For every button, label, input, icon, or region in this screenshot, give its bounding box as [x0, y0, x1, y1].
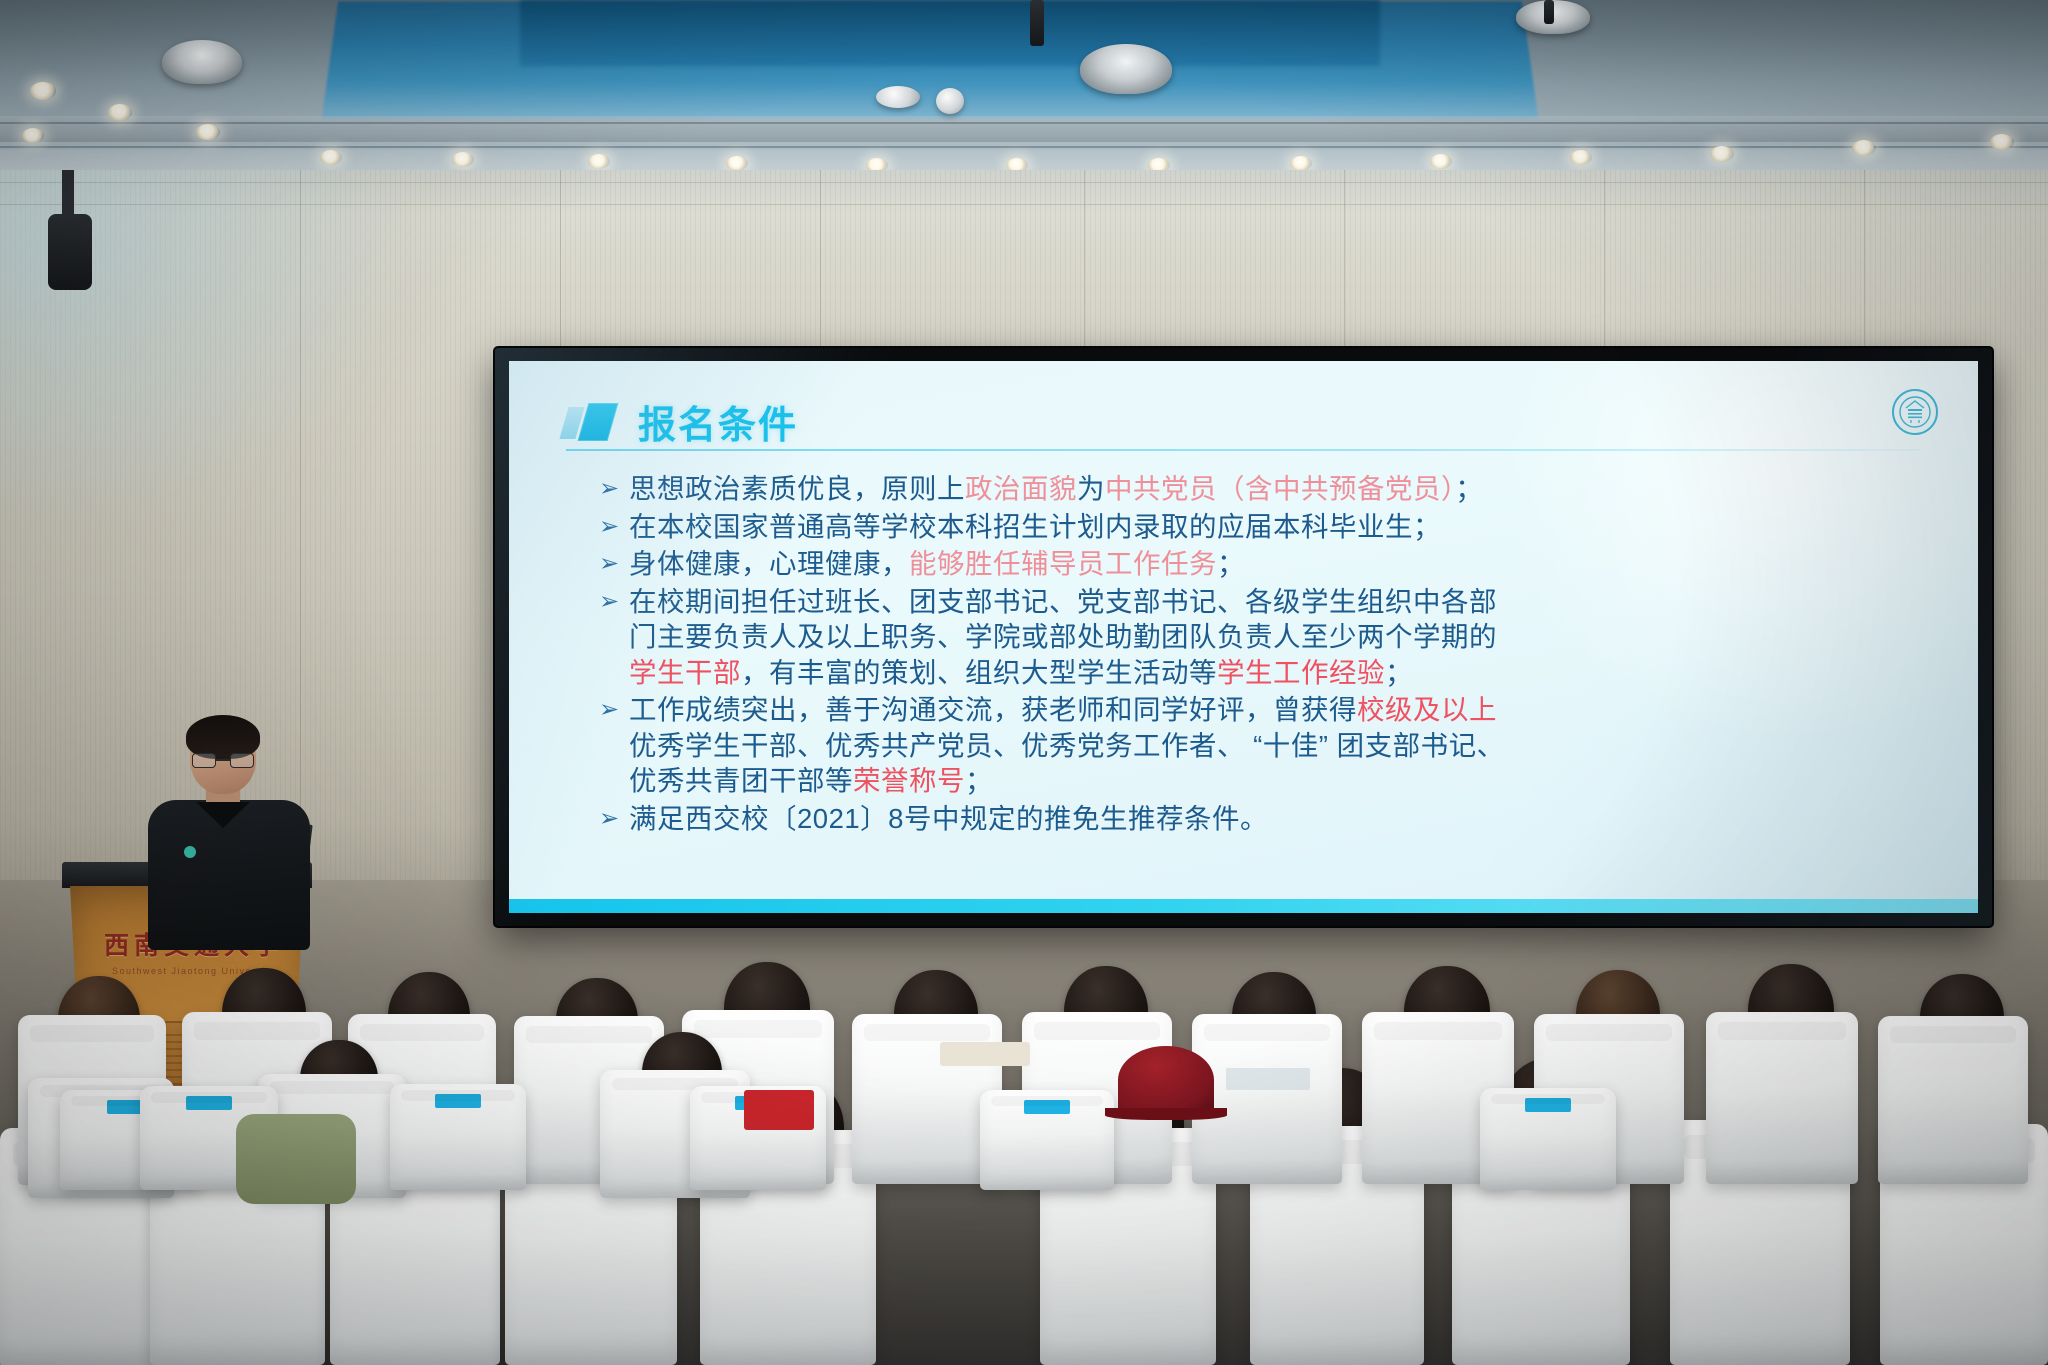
- ceiling-downlight: [22, 128, 44, 143]
- text-run: 满足西交校〔2021〕8号中规定的推免生推荐条件。: [629, 803, 1268, 834]
- paper-on-desk: [940, 1042, 1030, 1066]
- text-run: 学生干部: [629, 657, 741, 688]
- auditorium-seat: [980, 1090, 1114, 1190]
- text-run: ；: [1385, 657, 1413, 688]
- text-run: 思想政治素质优良，原则上: [629, 473, 965, 504]
- slide-bullet: ➢身体健康，心理健康，能够胜任辅导员工作任务；: [599, 546, 1939, 582]
- slide-bullet-line: 门主要负责人及以上职务、学院或部处助勤团队负责人至少两个学期的: [629, 619, 1939, 655]
- ceiling-blue-panel-inner: [520, 0, 1380, 66]
- text-run: ，有丰富的策划、组织大型学生活动等: [741, 657, 1217, 688]
- slide-title: 报名条件: [638, 394, 798, 449]
- ceiling-downlight: [1710, 146, 1734, 162]
- slide-bullet-line: 优秀学生干部、优秀共产党员、优秀党务工作者、 “十佳” 团支部书记、: [629, 728, 1939, 764]
- wall-trim-line: [0, 182, 2048, 183]
- text-run: 政治面貌: [965, 473, 1077, 504]
- text-run: 为: [1077, 473, 1105, 504]
- presenter-glasses: [192, 753, 254, 768]
- auditorium-seat: [1706, 1012, 1858, 1184]
- seat-number-tag: [435, 1094, 481, 1108]
- ceiling-downlight: [1290, 156, 1312, 171]
- ceiling-smoke-detector: [936, 88, 964, 114]
- slide-bullet: ➢满足西交校〔2021〕8号中规定的推免生推荐条件。: [599, 801, 1939, 837]
- slide-bullet-list: ➢思想政治素质优良，原则上政治面貌为中共党员（含中共预备党员）；➢在本校国家普通…: [599, 471, 1939, 838]
- text-run: ；: [1455, 473, 1483, 504]
- text-run: 优秀学生干部、优秀共产党员、优秀党务工作者、 “十佳” 团支部书记、: [629, 730, 1505, 761]
- wall-trim-line: [0, 204, 2048, 205]
- slide-bullet: ➢思想政治素质优良，原则上政治面貌为中共党员（含中共预备党员）；: [599, 471, 1939, 507]
- text-run: 能够胜任辅导员工作任务: [909, 548, 1217, 579]
- text-run: 优秀共青团干部等: [629, 765, 853, 796]
- slide-header: 报名条件: [564, 394, 798, 449]
- draped-jacket: [236, 1114, 356, 1204]
- slide-bullet-line: 学生干部，有丰富的策划、组织大型学生活动等学生工作经验；: [629, 655, 1939, 691]
- slide-bullet-line: 身体健康，心理健康，能够胜任辅导员工作任务；: [629, 546, 1939, 582]
- slide-bullet-line: 满足西交校〔2021〕8号中规定的推免生推荐条件。: [629, 801, 1939, 837]
- slide-bullet-text: 在校期间担任过班长、团支部书记、党支部书记、各级学生组织中各部门主要负责人及以上…: [629, 584, 1939, 691]
- text-run: 在校期间担任过班长、团支部书记、党支部书记、各级学生组织中各部: [629, 586, 1497, 617]
- text-run: 学生工作经验: [1217, 657, 1385, 688]
- bullet-marker-icon: ➢: [599, 471, 629, 507]
- slide-title-divider: [566, 449, 1921, 451]
- projector-mount: [1030, 0, 1044, 46]
- text-run: 门主要负责人及以上职务、学院或部处助勤团队负责人至少两个学期的: [629, 621, 1497, 652]
- text-run: ；: [965, 765, 993, 796]
- bullet-marker-icon: ➢: [599, 801, 629, 837]
- ceiling-downlight: [320, 150, 342, 165]
- ceiling-downlight: [452, 152, 474, 167]
- slide-bullet-line: 思想政治素质优良，原则上政治面貌为中共党员（含中共预备党员）；: [629, 471, 1939, 507]
- slide-bullet-text: 身体健康，心理健康，能够胜任辅导员工作任务；: [629, 546, 1939, 582]
- red-cap: [1118, 1046, 1214, 1114]
- ceiling-band: [0, 116, 2048, 142]
- lecture-hall-scene: 报名条件 ➢思想政治素质优良，原则上政治面貌为中共党员（含中共预备党员）；➢在本…: [0, 0, 2048, 1365]
- bullet-marker-icon: ➢: [599, 584, 629, 620]
- text-run: ；: [1217, 548, 1245, 579]
- text-run: 荣誉称号: [853, 765, 965, 796]
- text-run: 中共党员（含中共预备党员）: [1105, 473, 1455, 504]
- ceiling: [0, 0, 2048, 186]
- slide-bullet: ➢在本校国家普通高等学校本科招生计划内录取的应届本科毕业生；: [599, 509, 1939, 545]
- ceiling-speaker: [876, 86, 920, 108]
- slide-bullet-text: 满足西交校〔2021〕8号中规定的推免生推荐条件。: [629, 801, 1939, 837]
- slide-footer-bar: [509, 899, 1978, 913]
- slide-bullet-line: 工作成绩突出，善于沟通交流，获老师和同学好评，曾获得校级及以上: [629, 692, 1939, 728]
- auditorium-seat: [390, 1084, 526, 1190]
- slide-bullet-line: 在本校国家普通高等学校本科招生计划内录取的应届本科毕业生；: [629, 509, 1939, 545]
- slide-bullet-line: 在校期间担任过班长、团支部书记、党支部书记、各级学生组织中各部: [629, 584, 1939, 620]
- wall-speaker-box: [48, 214, 92, 290]
- auditorium-seat: [1878, 1016, 2028, 1184]
- ceiling-downlight: [588, 154, 610, 169]
- ceiling-downlight: [196, 124, 220, 140]
- projection-screen[interactable]: 报名条件 ➢思想政治素质优良，原则上政治面貌为中共党员（含中共预备党员）；➢在本…: [495, 348, 1992, 926]
- slide-bullet-text: 在本校国家普通高等学校本科招生计划内录取的应届本科毕业生；: [629, 509, 1939, 545]
- ceiling-downlight: [726, 156, 748, 171]
- paper-on-desk: [1226, 1068, 1310, 1090]
- slide-bullet: ➢在校期间担任过班长、团支部书记、党支部书记、各级学生组织中各部门主要负责人及以…: [599, 584, 1939, 691]
- text-run: 身体健康，心理健康，: [629, 548, 909, 579]
- ceiling-downlight: [1852, 140, 1876, 156]
- ceiling-slat: [0, 122, 2048, 124]
- slide-bullet-text: 工作成绩突出，善于沟通交流，获老师和同学好评，曾获得校级及以上优秀学生干部、优秀…: [629, 692, 1939, 799]
- text-run: 在本校国家普通高等学校本科招生计划内录取的应届本科毕业生；: [629, 511, 1441, 542]
- ceiling-downlight: [1570, 150, 1592, 165]
- seat-number-tag: [186, 1096, 232, 1110]
- auditorium-seat: [1480, 1088, 1616, 1190]
- ceiling-downlight: [1990, 134, 2014, 150]
- presenter-torso: [148, 800, 310, 950]
- slide-bullet-text: 思想政治素质优良，原则上政治面貌为中共党员（含中共预备党员）；: [629, 471, 1939, 507]
- university-crest-icon: [1892, 389, 1938, 435]
- red-booklet: [744, 1090, 814, 1130]
- ceiling-slat: [0, 146, 2048, 148]
- seat-number-tag: [1024, 1100, 1070, 1114]
- bullet-marker-icon: ➢: [599, 692, 629, 728]
- seat-number-tag: [1525, 1098, 1571, 1112]
- slide-bullet: ➢工作成绩突出，善于沟通交流，获老师和同学好评，曾获得校级及以上优秀学生干部、优…: [599, 692, 1939, 799]
- ceiling-downlight: [1430, 154, 1452, 169]
- wall-bracket: [62, 170, 74, 220]
- bullet-marker-icon: ➢: [599, 509, 629, 545]
- presenter: [140, 720, 340, 940]
- slide-title-parallelogram-icon: [564, 403, 616, 441]
- bullet-marker-icon: ➢: [599, 546, 629, 582]
- ceiling-downlight: [30, 82, 56, 100]
- presentation-slide: 报名条件 ➢思想政治素质优良，原则上政治面貌为中共党员（含中共预备党员）；➢在本…: [509, 361, 1978, 913]
- auditorium-seat: [1192, 1014, 1342, 1184]
- text-run: 校级及以上: [1357, 694, 1497, 725]
- ceiling-spotlight-can: [1080, 44, 1172, 94]
- ceiling-downlight: [108, 104, 132, 121]
- slide-bullet-line: 优秀共青团干部等荣誉称号；: [629, 763, 1939, 799]
- text-run: 工作成绩突出，善于沟通交流，获老师和同学好评，曾获得: [629, 694, 1357, 725]
- presenter-badge: [184, 846, 196, 858]
- projector-mount: [1544, 0, 1554, 24]
- ceiling-spotlight-can: [162, 40, 242, 84]
